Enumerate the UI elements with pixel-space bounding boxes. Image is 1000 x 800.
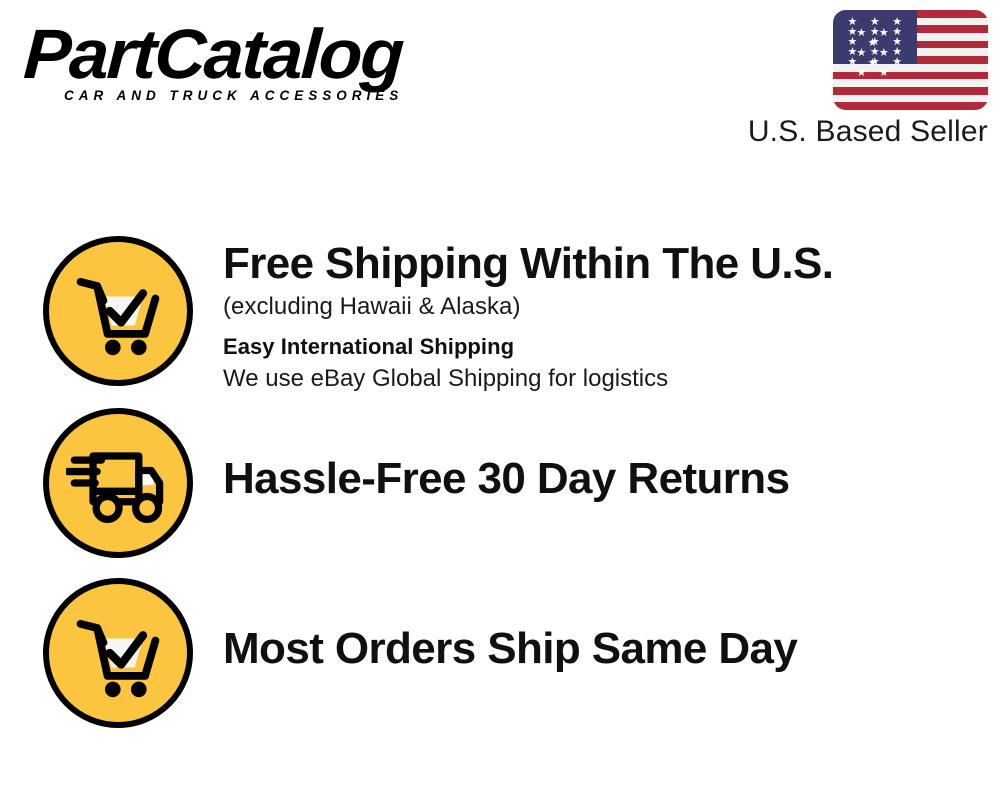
flag-stripe	[833, 87, 988, 95]
us-based-seller-badge: ★ ★ ★ ★ ★ ★ ★ ★ ★ ★ ★ ★ ★ ★ ★ ★ ★ ★ ★ ★ …	[713, 10, 988, 150]
page-header: PartCatalog CAR AND TRUCK ACCESSORIES ★ …	[0, 0, 1000, 170]
feature-text-block: Hassle-Free 30 Day Returns	[223, 408, 1000, 505]
feature-title: Most Orders Ship Same Day	[223, 623, 1000, 675]
feature-row: Hassle-Free 30 Day Returns	[0, 408, 1000, 580]
feature-title: Hassle-Free 30 Day Returns	[223, 453, 1000, 505]
feature-subtitle: (excluding Hawaii & Alaska)	[223, 290, 1000, 324]
flag-star-row: ★ ★ ★ ★ ★	[833, 56, 917, 78]
flag-stripe	[833, 102, 988, 110]
brand-logo[interactable]: PartCatalog CAR AND TRUCK ACCESSORIES	[22, 18, 492, 114]
shopping-cart-check-icon	[43, 236, 193, 386]
feature-row: Most Orders Ship Same Day	[0, 578, 1000, 753]
feature-subtitle-detail: We use eBay Global Shipping for logistic…	[223, 363, 1000, 395]
delivery-truck-icon	[43, 408, 193, 558]
flag-stripe	[833, 95, 988, 103]
shopping-cart-check-icon	[43, 578, 193, 728]
feature-text-block: Free Shipping Within The U.S. (excluding…	[223, 236, 1000, 395]
feature-text-block: Most Orders Ship Same Day	[223, 578, 1000, 675]
brand-wordmark: PartCatalog	[22, 18, 505, 90]
feature-title: Free Shipping Within The U.S.	[223, 238, 1000, 290]
feature-subtitle-bold: Easy International Shipping	[223, 331, 1000, 363]
flag-stripe	[833, 79, 988, 87]
us-based-seller-label: U.S. Based Seller	[713, 114, 988, 150]
us-flag-icon: ★ ★ ★ ★ ★ ★ ★ ★ ★ ★ ★ ★ ★ ★ ★ ★ ★ ★ ★ ★ …	[833, 10, 988, 110]
feature-row: Free Shipping Within The U.S. (excluding…	[0, 236, 1000, 411]
flag-canton: ★ ★ ★ ★ ★ ★ ★ ★ ★ ★ ★ ★ ★ ★ ★ ★ ★ ★ ★ ★ …	[833, 10, 917, 64]
